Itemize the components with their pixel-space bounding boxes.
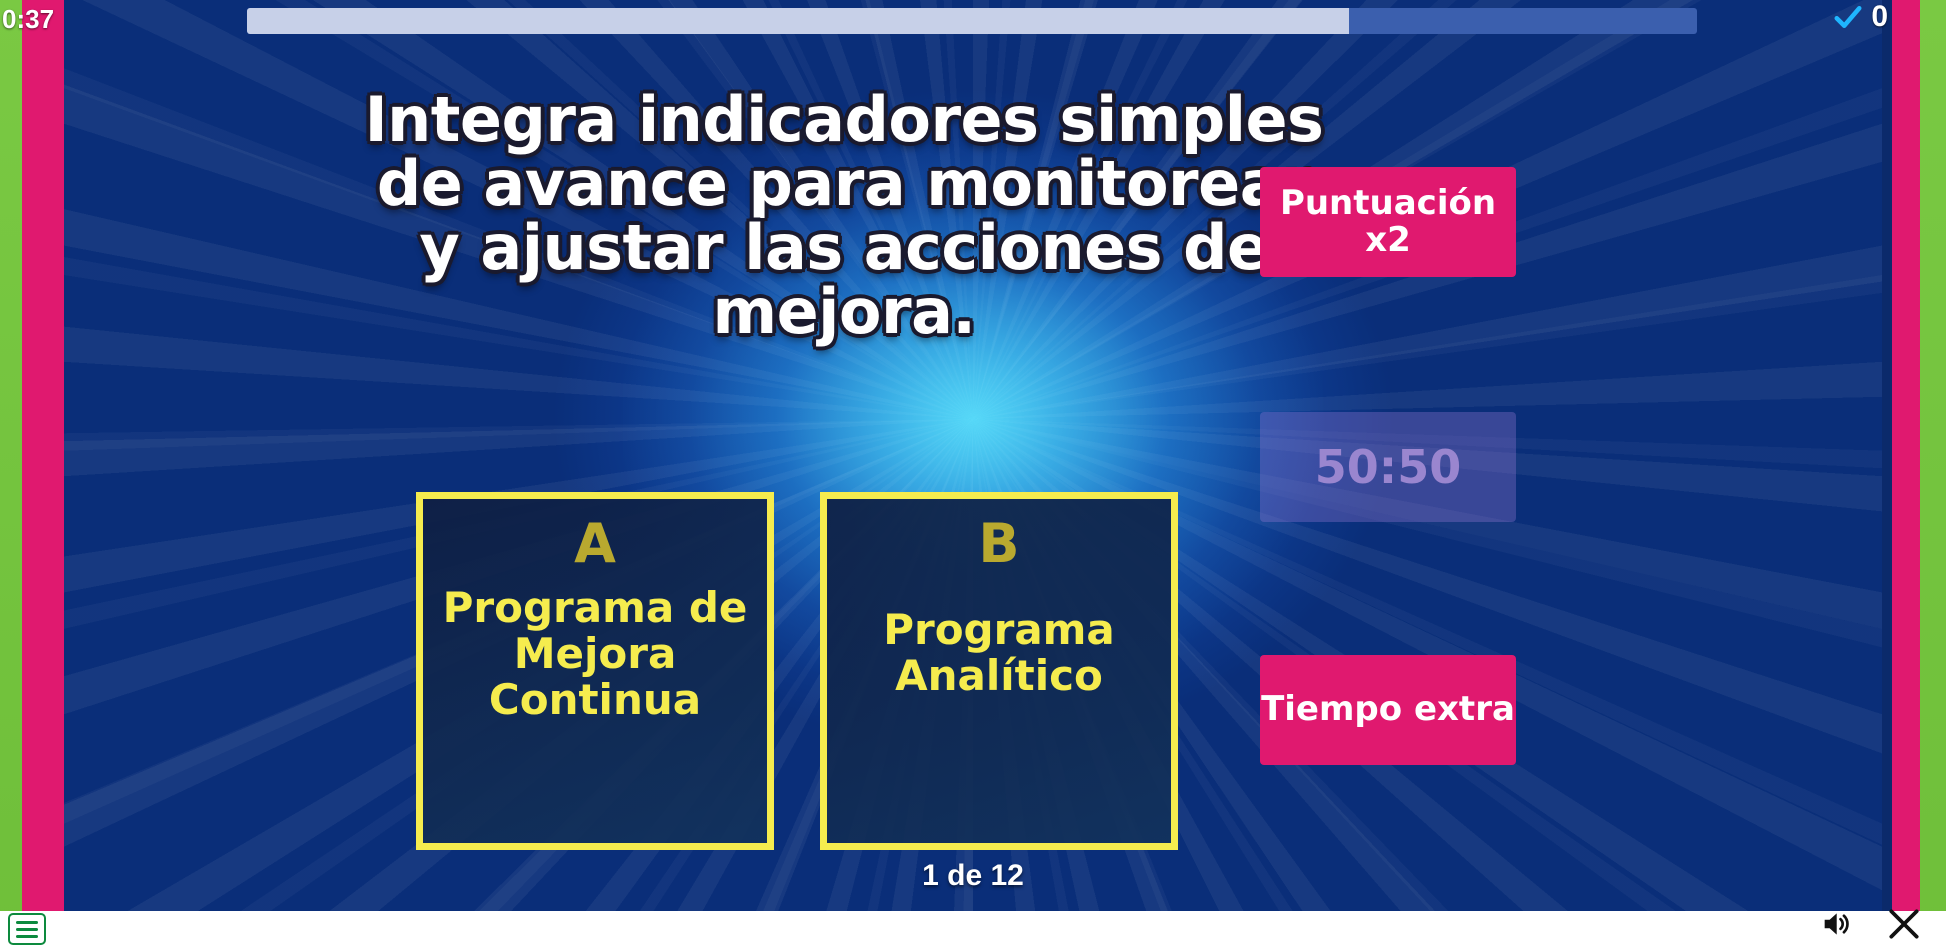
score-display: 0 xyxy=(1833,0,1888,34)
right-green-rail xyxy=(1920,0,1946,949)
speaker-on-icon[interactable] xyxy=(1816,907,1856,945)
question-pager: 1 de 12 xyxy=(64,859,1882,893)
answer-letter-a: A xyxy=(574,517,616,571)
answer-option-b[interactable]: B Programa Analítico xyxy=(820,492,1178,850)
answer-option-a[interactable]: A Programa de Mejora Continua xyxy=(416,492,774,850)
quiz-screen: Integra indicadores simples de avance pa… xyxy=(0,0,1946,949)
score-value: 0 xyxy=(1871,0,1888,34)
answer-label-b: Programa Analítico xyxy=(827,585,1171,699)
progress-bar[interactable] xyxy=(247,8,1697,34)
question-text: Integra indicadores simples de avance pa… xyxy=(364,88,1324,343)
hamburger-menu-icon[interactable] xyxy=(8,913,46,945)
right-pink-rail xyxy=(1892,0,1920,911)
powerup-extra-time[interactable]: Tiempo extra xyxy=(1260,655,1516,765)
powerup-score-x2[interactable]: Puntuación x2 xyxy=(1260,167,1516,277)
bottom-white-bar xyxy=(0,911,1946,949)
left-pink-rail xyxy=(22,0,64,911)
answer-options: A Programa de Mejora Continua B Programa… xyxy=(416,492,1178,850)
left-green-rail xyxy=(0,0,22,949)
check-icon xyxy=(1833,2,1863,32)
countdown-timer: 0:37 xyxy=(2,4,54,35)
answer-label-a: Programa de Mejora Continua xyxy=(423,585,767,724)
quiz-stage: Integra indicadores simples de avance pa… xyxy=(64,0,1882,911)
answer-letter-b: B xyxy=(978,517,1019,571)
powerup-fifty-fifty[interactable]: 50:50 xyxy=(1260,412,1516,522)
close-icon[interactable] xyxy=(1884,905,1924,947)
progress-bar-fill xyxy=(247,8,1349,34)
